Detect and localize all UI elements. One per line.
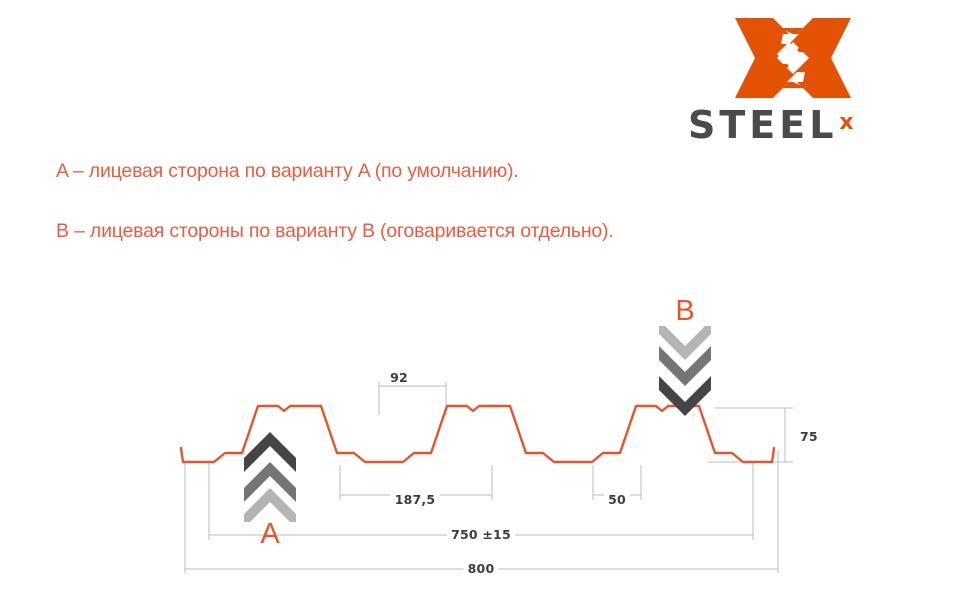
note-variant-b: B – лицевая стороны по варианту B (огова… xyxy=(56,220,614,243)
dimension-label-profile-height: 75 xyxy=(796,429,822,444)
dimension-label-rib-pitch: 187,5 xyxy=(391,492,440,507)
dimension-label-cover-width: 750 ±15 xyxy=(447,527,515,542)
dimension-label-total-width: 800 xyxy=(464,561,499,576)
profile-cross-section-drawing: A B 92 187,5 50 75 750 ±15 800 xyxy=(0,290,970,590)
steelx-wordmark: STEELx xyxy=(688,102,903,144)
chevron-down-icon-variant-b xyxy=(657,326,713,418)
steelx-logo: STEELx xyxy=(688,14,903,144)
wordmark-superscript-x: x xyxy=(839,110,853,135)
steelx-x-mark-icon xyxy=(733,14,853,102)
marker-letter-b: B xyxy=(657,295,713,327)
dimension-label-rib-top-width: 92 xyxy=(386,370,412,385)
dimension-label-valley-width: 50 xyxy=(604,492,630,507)
marker-letter-a: A xyxy=(242,518,298,550)
chevron-up-icon-variant-a xyxy=(242,430,298,522)
wordmark-steel: STEEL xyxy=(688,103,837,147)
profile-drawing-page: STEELx A – лицевая сторона по варианту A… xyxy=(0,0,970,597)
note-variant-a: A – лицевая сторона по варианту A (по ум… xyxy=(56,160,519,183)
